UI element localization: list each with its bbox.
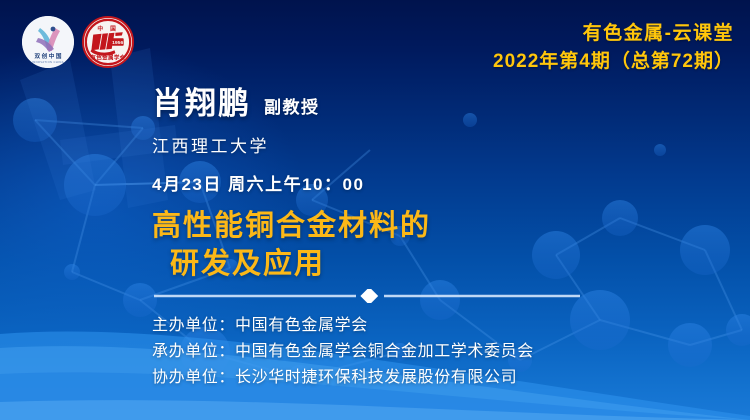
webinar-poster: 双 创 中 国 INNOVATION CHINA 中 国 1956 有色金属学会 <box>0 0 750 420</box>
organizer-line-undertaker: 承办单位：中国有色金属学会铜合金加工学术委员会 <box>152 339 534 365</box>
organizer-line-co-host: 协办单位：长沙华时捷环保科技发展股份有限公司 <box>152 365 534 391</box>
speaker-name: 肖翔鹏 <box>152 88 251 119</box>
speaker-academic-title: 副教授 <box>264 99 320 119</box>
header-series-info: 有色金属-云课堂 2022年第4期（总第72期） <box>493 22 734 74</box>
svg-text:有色金属学会: 有色金属学会 <box>90 54 125 62</box>
series-label: 有色金属-云课堂 <box>493 22 734 46</box>
divider <box>152 289 582 303</box>
svg-text:INNOVATION CHINA: INNOVATION CHINA <box>32 60 64 64</box>
svg-text:双 创 中 国: 双 创 中 国 <box>34 52 61 60</box>
innovation-china-logo: 双 创 中 国 INNOVATION CHINA <box>22 16 74 68</box>
issue-label: 2022年第4期（总第72期） <box>493 49 734 75</box>
talk-title: 高性能铜合金材料的 研发及应用 <box>152 208 542 283</box>
main-content: 肖翔鹏 副教授 江西理工大学 4月23日 周六上午10：00 高性能铜合金材料的… <box>152 88 712 283</box>
speaker-row: 肖翔鹏 副教授 <box>152 88 712 119</box>
svg-text:1956: 1956 <box>112 40 123 46</box>
talk-title-line-2: 研发及应用 <box>152 246 542 284</box>
csm-logo: 中 国 1956 有色金属学会 <box>82 16 134 68</box>
diamond-ornament-icon <box>360 289 378 303</box>
organizer-list: 主办单位：中国有色金属学会 承办单位：中国有色金属学会铜合金加工学术委员会 协办… <box>152 313 534 391</box>
speaker-affiliation: 江西理工大学 <box>152 132 712 157</box>
event-datetime: 4月23日 周六上午10：00 <box>152 170 712 195</box>
svg-text:中 国: 中 国 <box>97 24 118 32</box>
talk-title-line-1: 高性能铜合金材料的 <box>152 208 542 246</box>
organizer-line-host: 主办单位：中国有色金属学会 <box>152 313 534 339</box>
logo-group: 双 创 中 国 INNOVATION CHINA 中 国 1956 有色金属学会 <box>22 16 134 68</box>
